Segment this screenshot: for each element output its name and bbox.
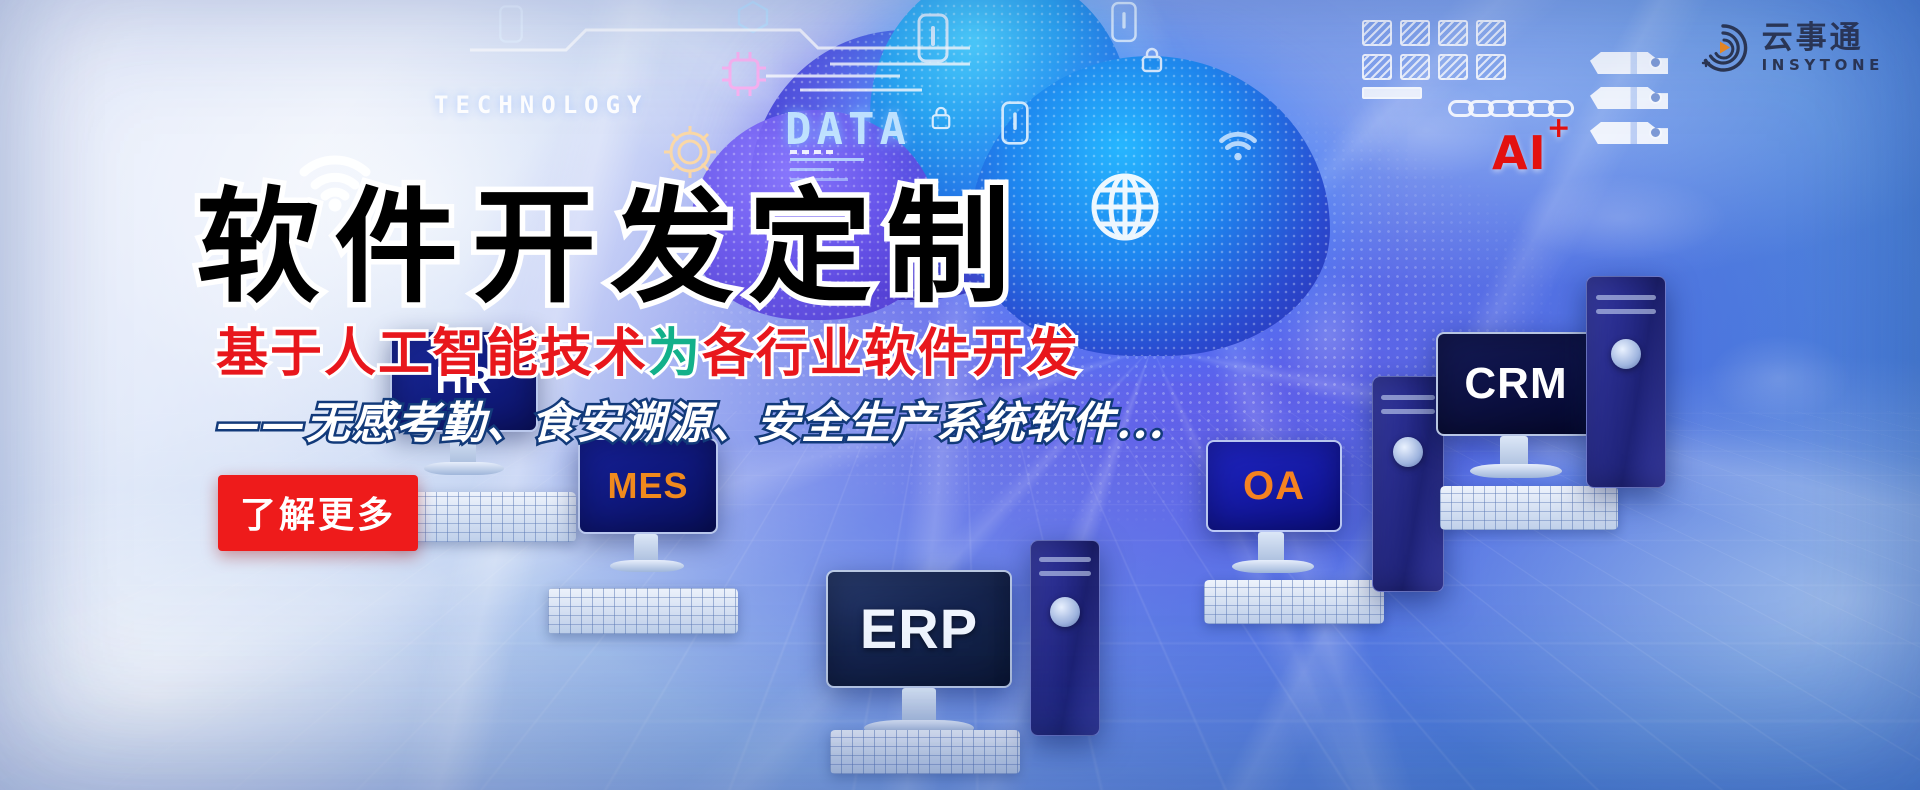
hero-banner: HR MES ERP OA — [0, 0, 1920, 790]
vignette-overlay — [0, 0, 1920, 790]
